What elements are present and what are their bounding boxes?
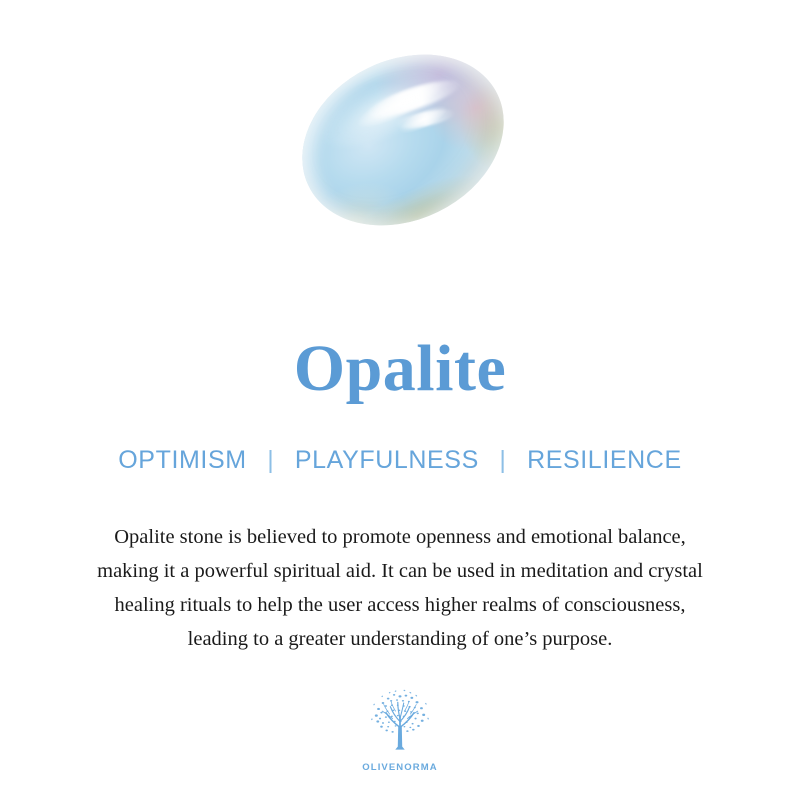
description-line: leading to a greater understanding of on… [20, 622, 780, 656]
description-line: making it a powerful spiritual aid. It c… [20, 554, 780, 588]
description-paragraph: Opalite stone is believed to promote ope… [20, 520, 780, 656]
gemstone-image-area [0, 60, 800, 260]
keyword-list: OPTIMISM | PLAYFULNESS | RESILIENCE [0, 445, 800, 475]
page-title: Opalite [0, 336, 800, 402]
keyword-separator: | [486, 445, 519, 475]
brand-logo: OLIVENORMA [0, 686, 800, 773]
opalite-cabochon [274, 22, 533, 258]
description-line: Opalite stone is believed to promote ope… [20, 520, 780, 554]
opalite-info-card: Opalite OPTIMISM | PLAYFULNESS | RESILIE… [0, 0, 800, 800]
keyword-playfulness: PLAYFULNESS [295, 446, 479, 474]
stone-rim-glow [274, 22, 533, 258]
keyword-separator: | [254, 445, 287, 475]
olive-tree-icon [363, 686, 437, 760]
keyword-optimism: OPTIMISM [118, 446, 246, 474]
brand-wordmark: OLIVENORMA [0, 762, 800, 773]
description-line: healing rituals to help the user access … [20, 588, 780, 622]
keyword-resilience: RESILIENCE [527, 446, 682, 474]
